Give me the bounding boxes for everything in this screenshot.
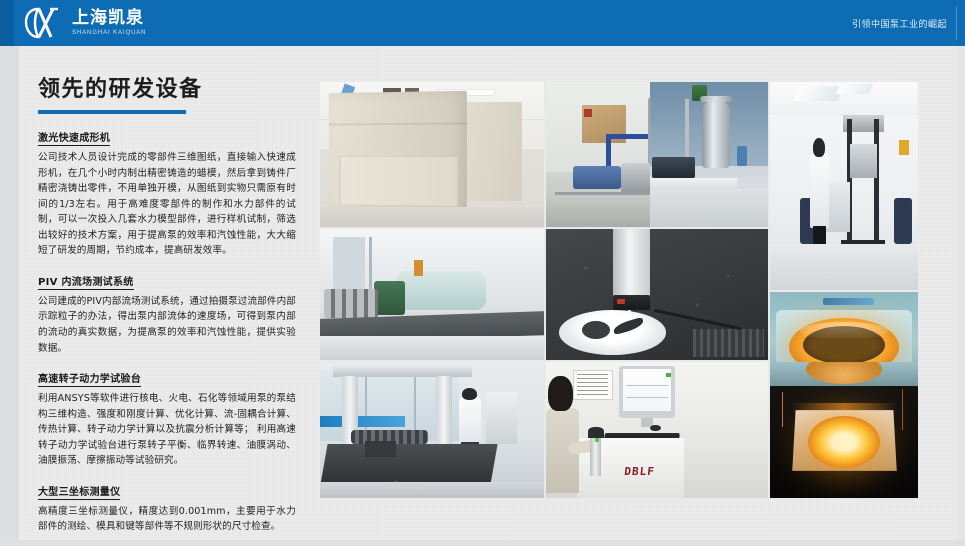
header-accent-bar <box>0 0 14 46</box>
kaiquan-pump-logo-icon <box>24 6 66 40</box>
site-header: 上海凯泉 SHANGHAI KAIQUAN 引领中国泵工业的崛起 <box>0 0 965 46</box>
page-title: 领先的研发设备 <box>38 78 296 102</box>
brand-logo[interactable]: 上海凯泉 SHANGHAI KAIQUAN <box>24 6 146 40</box>
photo-universal-testing-machine[interactable] <box>770 82 918 290</box>
section-piv-flow-field: PIV 内流场测试系统 公司建成的PIV内部流场测试系统，通过拍摄泵过流部件内部… <box>38 272 296 356</box>
spectrometer-brand-label: DBLF <box>612 465 667 479</box>
photo-surface: DBLF <box>546 362 768 498</box>
content-column: 领先的研发设备 激光快速成形机 公司技术人员设计完成的零部件三维图纸，直接输入快… <box>38 78 296 546</box>
brand-name-cn: 上海凯泉 <box>72 10 146 27</box>
section-laser-rapid-prototyping: 激光快速成形机 公司技术人员设计完成的零部件三维图纸，直接输入快速成形机，在几个… <box>38 128 296 259</box>
title-underline <box>38 110 186 114</box>
photo-furnace-glow[interactable] <box>770 362 918 498</box>
section-body: 公司技术人员设计完成的零部件三维图纸，直接输入快速成形机，在几个小时内制出精密铸… <box>38 150 296 259</box>
photo-spectrometer-operator[interactable]: DBLF <box>546 362 768 498</box>
photo-cmm-probe-impeller[interactable] <box>546 229 768 360</box>
section-heading: PIV 内流场测试系统 <box>38 273 134 290</box>
photo-surface <box>650 82 768 227</box>
section-body: 高精度三坐标测量仪，精度达到0.001mm，主要用于水力部件的测绘、模具和键等部… <box>38 504 296 535</box>
section-cmm: 大型三坐标测量仪 高精度三坐标测量仪，精度达到0.001mm，主要用于水力部件的… <box>38 482 296 535</box>
left-gutter <box>0 46 19 546</box>
photo-surface <box>770 362 918 498</box>
photo-surface <box>770 82 918 290</box>
photo-piv-laser-tank[interactable] <box>650 82 768 227</box>
photo-surface <box>320 229 544 360</box>
section-high-speed-rotor-dynamics: 高速转子动力学试验台 利用ANSYS等软件进行核电、火电、石化等领域用泵的泵结构… <box>38 369 296 469</box>
section-body: 公司建成的PIV内部流场测试系统，通过拍摄泵过流部件内部示踪粒子的办法，得出泵内… <box>38 294 296 356</box>
header-slogan: 引领中国泵工业的崛起 <box>852 0 947 46</box>
section-body: 利用ANSYS等软件进行核电、火电、石化等领域用泵的泵结构三维构造、强度和刚度计… <box>38 391 296 469</box>
cmm-brand-label: advantage <box>387 480 425 490</box>
photo-rotor-dynamics-testbed[interactable] <box>320 229 544 360</box>
photo-surface: advantage <box>320 362 544 498</box>
photo-surface <box>320 82 544 227</box>
photo-cmm-bridge-operator[interactable]: advantage <box>320 362 544 498</box>
photo-laser-rapid-prototyping[interactable] <box>320 82 544 227</box>
photo-surface <box>546 229 768 360</box>
section-heading: 大型三坐标测量仪 <box>38 483 120 500</box>
section-heading: 高速转子动力学试验台 <box>38 370 141 387</box>
header-divider <box>956 6 957 40</box>
right-gutter <box>957 46 965 546</box>
equipment-photo-gallery: advantage DBLF <box>320 82 918 498</box>
brand-name-en: SHANGHAI KAIQUAN <box>72 30 146 36</box>
section-heading: 激光快速成形机 <box>38 129 110 146</box>
brand-logo-text: 上海凯泉 SHANGHAI KAIQUAN <box>72 10 146 36</box>
slide-canvas: 上海凯泉 SHANGHAI KAIQUAN 引领中国泵工业的崛起 领先的研发设备… <box>0 0 965 546</box>
